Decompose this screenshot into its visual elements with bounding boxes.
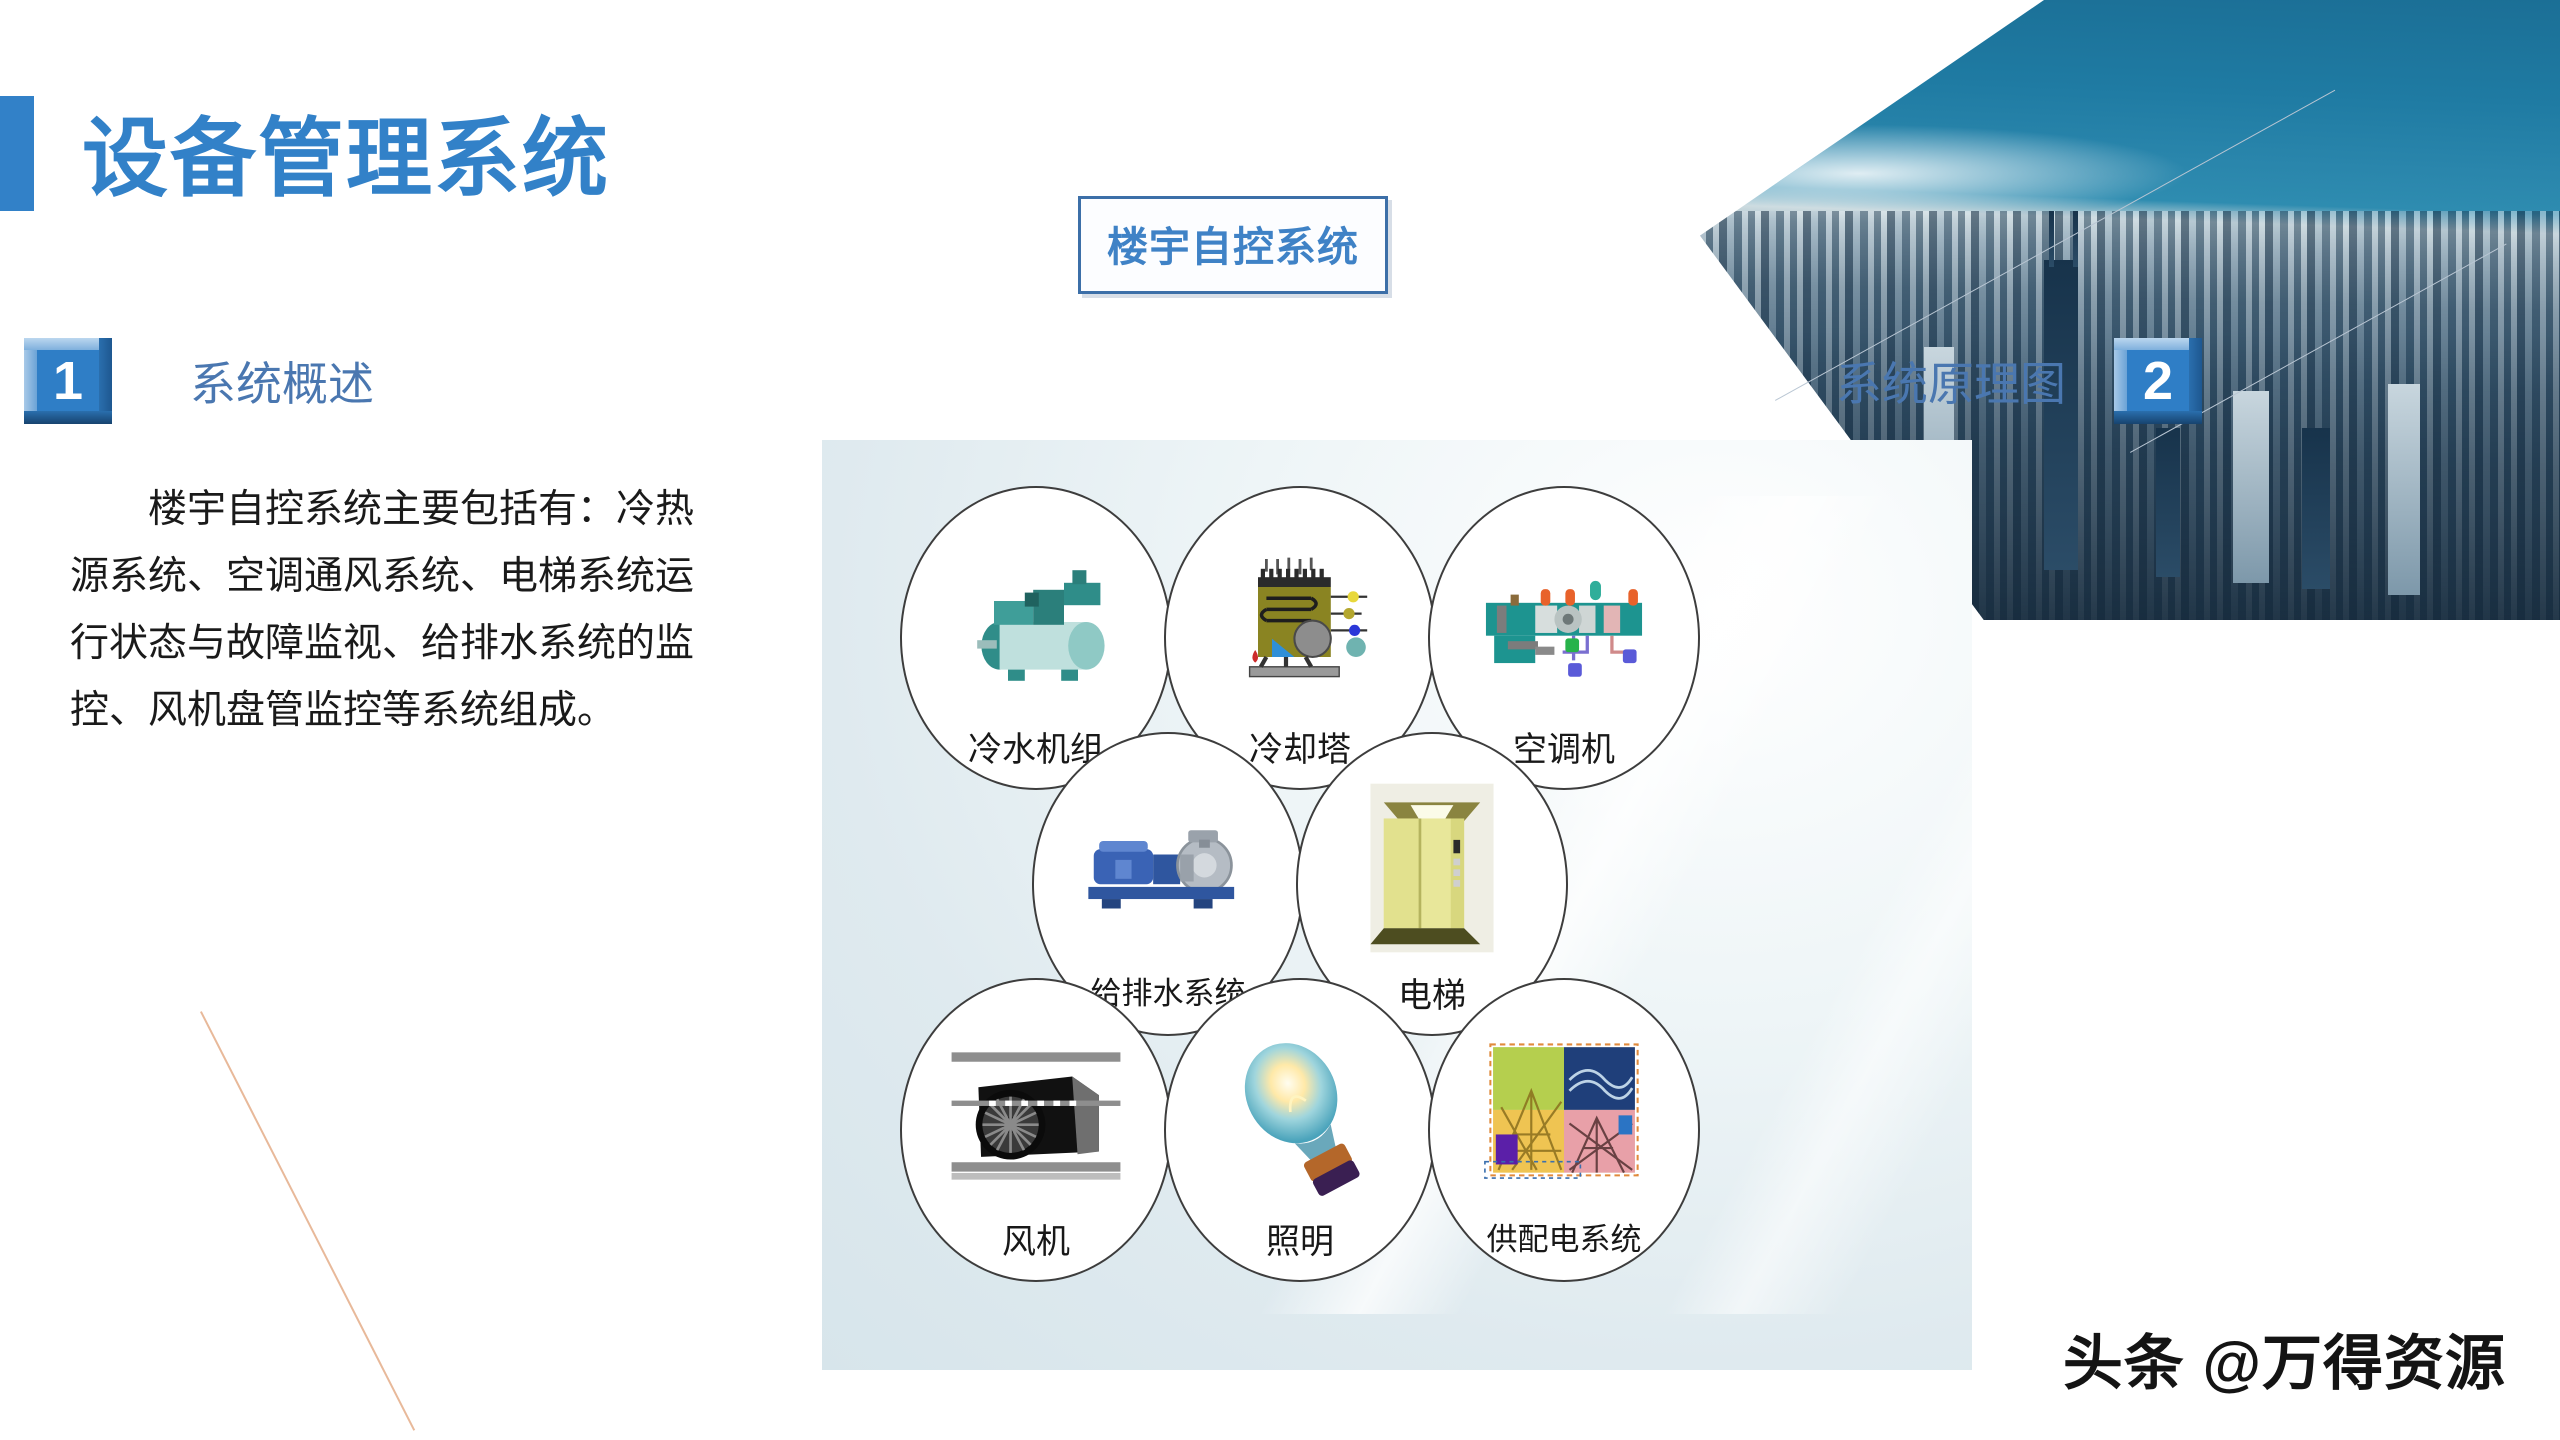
tower-shape [2233,391,2269,583]
decor-orange-line [200,1011,415,1431]
light-bulb-icon [1206,1020,1394,1208]
badge-number: 2 [2127,350,2189,411]
badge-number: 1 [37,350,99,411]
tower-shape [2156,428,2180,577]
section-label-schematic: 系统原理图 [1836,348,2066,414]
chiller-icon [942,528,1130,716]
node-label: 空调机 [1513,722,1615,771]
system-schematic-diagram: 冷水机组 [822,440,1972,1370]
page-title: 设备管理系统 [82,88,610,213]
badge-edge-bottom [24,411,112,424]
diagram-node-blower-fan[interactable]: 风机 [900,978,1172,1282]
air-handling-unit-icon [1470,528,1658,716]
tower-antenna [2049,211,2054,267]
node-label: 照明 [1266,1214,1334,1263]
cooling-tower-icon [1206,528,1394,716]
badge-edge-bottom [2114,411,2202,424]
boxed-subtitle: 楼宇自控系统 [1078,196,1388,294]
tower-shape [2044,260,2078,570]
tower-antenna [2073,211,2078,267]
overview-paragraph: 楼宇自控系统主要包括有：冷热源系统、空调通风系统、电梯系统运行状态与故障监视、给… [70,476,710,744]
section-badge-1: 1 [24,338,112,424]
node-label: 供配电系统 [1487,1214,1642,1259]
tower-shape [2302,428,2330,589]
elevator-icon [1338,774,1526,962]
title-accent-bar [0,96,34,211]
node-label: 电梯 [1398,968,1466,1017]
section-badge-2: 2 [2114,338,2202,424]
watermark-text: 头条 @万得资源 [2063,1315,2506,1402]
tower-shape [2388,384,2420,595]
node-label: 风机 [1002,1214,1070,1263]
node-label: 冷却塔 [1249,722,1351,771]
diagram-node-lighting[interactable]: 照明 [1164,978,1436,1282]
power-distribution-icon [1470,1020,1658,1208]
blower-fan-icon [942,1020,1130,1208]
water-pump-icon [1074,774,1262,962]
slide-canvas: 设备管理系统 1 系统概述 楼宇自控系统主要包括有：冷热源系统、空调通风系统、电… [0,0,2560,1440]
diagram-node-power-distribution[interactable]: 供配电系统 [1428,978,1700,1282]
section-label-overview: 系统概述 [190,348,374,414]
